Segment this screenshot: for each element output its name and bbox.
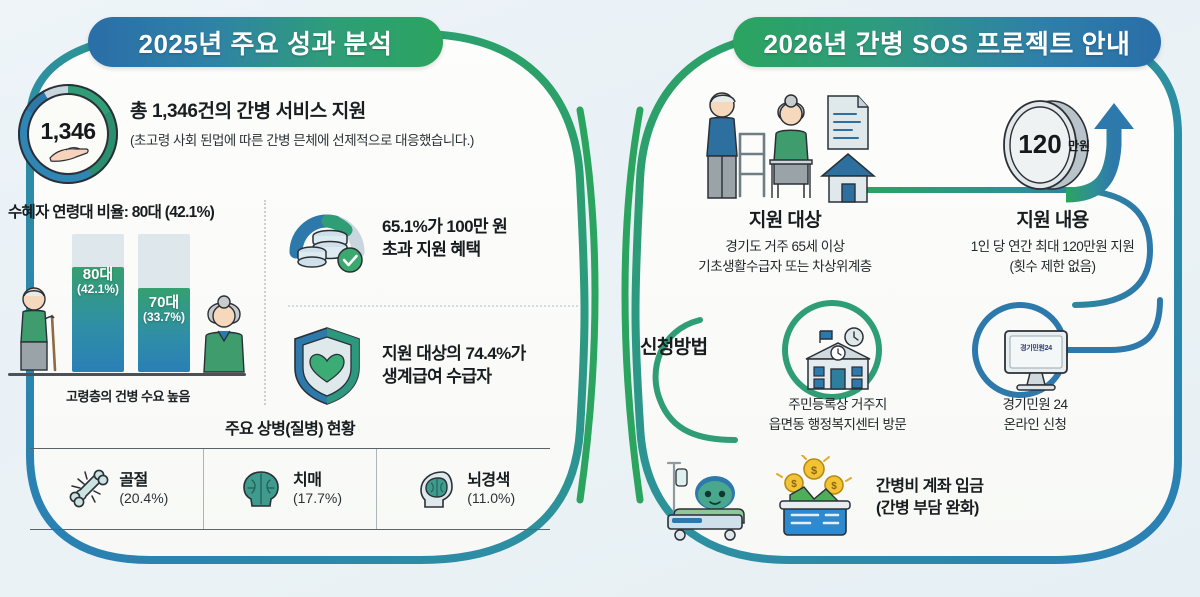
bone-fracture-icon: [64, 466, 110, 512]
deposit-text: 간병비 계좌 입금 (간병 부담 완화): [876, 476, 983, 521]
coin-120-arrow-icon: 120 만원: [970, 87, 1145, 207]
right-panel: 지원 대상 경기도 거주 65세 이상 기초생활수급자 또는 차상위계층 120…: [620, 60, 1200, 560]
stat-welfare-line1: 지원 대상의 74.4%가: [382, 343, 526, 366]
bar-value-70s: (33.7%): [138, 311, 190, 325]
support-content-line1: 1인 당 연간 최대 120만원 지원: [920, 237, 1185, 257]
vertical-dotted-divider: [264, 200, 266, 405]
bar-category-80s: 80대: [72, 266, 124, 283]
disease-cell-stroke: 뇌경색 (11.0%): [376, 449, 550, 529]
total-cases-donut: 1,346: [18, 84, 118, 184]
key-stats-list: 65.1%가 100만 원 초과 지원 혜택 지원 대상의 74.4%가 생계급…: [288, 200, 578, 408]
disease-section: 주요 상병(질병) 현황: [30, 415, 550, 530]
hero-subtitle: (초고령 사회 된멉에 따른 간병 믄체에 선제적으로 대응했습니다.): [130, 129, 560, 149]
support-content-detail: 1인 당 연간 최대 120만원 지원 (횟수 제한 없음): [920, 237, 1185, 276]
deposit-line1: 간병비 계좌 입금: [876, 476, 983, 498]
elderly-woman-icon: [196, 294, 252, 374]
stat-welfare-line2: 생계급여 수급자: [382, 366, 526, 389]
apply-step-visit-text: 주민등록상 거주지 읍면동 행정복지센터 방문: [730, 395, 945, 434]
disease-text-stroke: 뇌경색 (11.0%): [467, 471, 515, 507]
support-content-group: 120 만원 지원 내용 1인 당 연간 최대 120만원 지원 (횟수 제한 …: [920, 205, 1185, 276]
support-target-line1: 경기도 거주 65세 이상: [660, 237, 910, 257]
disease-section-title: 주요 상병(질병) 현황: [30, 415, 550, 439]
stats-dotted-separator: [288, 305, 578, 307]
head-brain-icon: [412, 466, 458, 512]
support-target-detail: 경기도 거주 65세 이상 기초생활수급자 또는 차상위계층: [660, 237, 910, 276]
hero-title: 총 1,346건의 간병 서비스 지원: [130, 96, 560, 123]
svg-text:$: $: [791, 479, 797, 490]
bar-label-80s: 80대 (42.1%): [72, 266, 124, 297]
brain-icon: [238, 466, 284, 512]
right-panel-title: 2026년 간병 SOS 프로젝트 안내: [764, 24, 1131, 61]
shield-heart-icon: [288, 324, 366, 408]
elderly-man-icon: [8, 286, 66, 374]
age-distribution-block: 수혜자 연령대 비율: 80대 (42.1%) 80대: [8, 200, 248, 405]
support-content-heading: 지원 내용: [920, 205, 1185, 232]
donut-value: 1,346: [18, 78, 118, 184]
bar-value-80s: (42.1%): [72, 283, 124, 297]
monitor-icon: 경기민원24: [997, 327, 1075, 395]
disease-name-fracture: 골절: [119, 471, 168, 490]
disease-pct-stroke: (11.0%): [467, 490, 515, 507]
disease-text-dementia: 치매 (17.7%): [293, 471, 342, 507]
coins-arc-check-icon: [288, 200, 366, 278]
deposit-line2: (간병 부담 완화): [876, 498, 983, 520]
apply-online-line1: 경기민원 24: [945, 395, 1125, 415]
apply-online-line2: 온라인 신청: [945, 415, 1125, 435]
stat-text-welfare: 지원 대상의 74.4%가 생계급여 수급자: [382, 343, 526, 389]
apply-step-visit: 주민등록상 거주지 읍면동 행정복지센터 방문: [730, 395, 945, 434]
disease-cell-fracture: 골절 (20.4%): [30, 449, 203, 529]
support-target-heading: 지원 대상: [660, 205, 910, 232]
svg-text:$: $: [831, 481, 837, 492]
stat-row-welfare: 지원 대상의 74.4%가 생계급여 수급자: [288, 324, 578, 408]
svg-text:$: $: [811, 465, 817, 477]
disease-text-fracture: 골절 (20.4%): [119, 471, 168, 507]
chart-baseline: [8, 373, 246, 376]
apply-visit-line2: 읍면동 행정복지센터 방문: [730, 415, 945, 435]
support-content-line2: (횟수 제한 없음): [920, 257, 1185, 277]
apply-method-label: 신청방법: [640, 332, 708, 359]
bar-track-80s: 80대 (42.1%): [72, 234, 124, 372]
stat-text-benefit: 65.1%가 100만 원 초과 지원 혜택: [382, 216, 507, 262]
disease-table: 골절 (20.4%) 치매 (17.7%): [30, 448, 550, 530]
community-center-icon: [792, 325, 884, 395]
deposit-row: $ $ $ 간병비 계좌 입금 (간병 부담 완화): [660, 455, 1140, 541]
age-chart-caption: 고령층의 건병 수요 높음: [8, 386, 248, 405]
support-target-group: 지원 대상 경기도 거주 65세 이상 기초생활수급자 또는 차상위계층: [660, 205, 910, 276]
stat-benefit-line1: 65.1%가 100만 원: [382, 216, 507, 239]
left-panel: 1,346 총 1,346건의 간병 서비스 지원 (초고령 사회 된멉에 따른…: [0, 60, 600, 560]
bar-label-70s: 70대 (33.7%): [138, 294, 190, 325]
money-wallet-icon: $ $ $: [766, 455, 862, 541]
disease-name-dementia: 치매: [293, 471, 342, 490]
age-chart-title: 수혜자 연령대 비율: 80대 (42.1%): [8, 200, 248, 222]
apply-step-online-text: 경기민원 24 온라인 신청: [945, 395, 1125, 434]
infographic-canvas: 2025년 주요 성과 분석 2026년 간병 SOS 프로젝트 안내 1,34…: [0, 0, 1200, 597]
patient-bed-icon: [660, 455, 752, 541]
stat-benefit-line2: 초과 지원 혜택: [382, 239, 507, 262]
age-bar-chart: 80대 (42.1%) 70대 (33.7%): [8, 230, 248, 380]
support-target-line2: 기초생활수급자 또는 차상위계층: [660, 257, 910, 277]
hero-text-block: 총 1,346건의 간병 서비스 지원 (초고령 사회 된멉에 따른 간병 믄체…: [130, 96, 560, 149]
left-panel-title: 2025년 주요 성과 분석: [139, 24, 393, 61]
helping-hand-icon: [46, 142, 90, 164]
left-panel-title-badge: 2025년 주요 성과 분석: [88, 17, 443, 67]
svg-text:120: 120: [1018, 129, 1061, 159]
right-panel-title-badge: 2026년 간병 SOS 프로젝트 안내: [733, 17, 1161, 67]
disease-cell-dementia: 치매 (17.7%): [203, 449, 377, 529]
stat-row-benefit: 65.1%가 100만 원 초과 지원 혜택: [288, 200, 578, 278]
disease-pct-dementia: (17.7%): [293, 490, 342, 507]
disease-name-stroke: 뇌경색: [467, 471, 515, 490]
apply-step-online: 경기민원24 경기민원 24 온라인 신청: [945, 395, 1125, 434]
monitor-screen-label: 경기민원24: [997, 343, 1075, 353]
coin-unit-label: 만원: [1068, 137, 1090, 154]
bar-track-70s: 70대 (33.7%): [138, 234, 190, 372]
disease-pct-fracture: (20.4%): [119, 490, 168, 507]
elderly-couple-house-doc-icon: [682, 90, 897, 208]
apply-visit-line1: 주민등록상 거주지: [730, 395, 945, 415]
bar-category-70s: 70대: [138, 294, 190, 311]
